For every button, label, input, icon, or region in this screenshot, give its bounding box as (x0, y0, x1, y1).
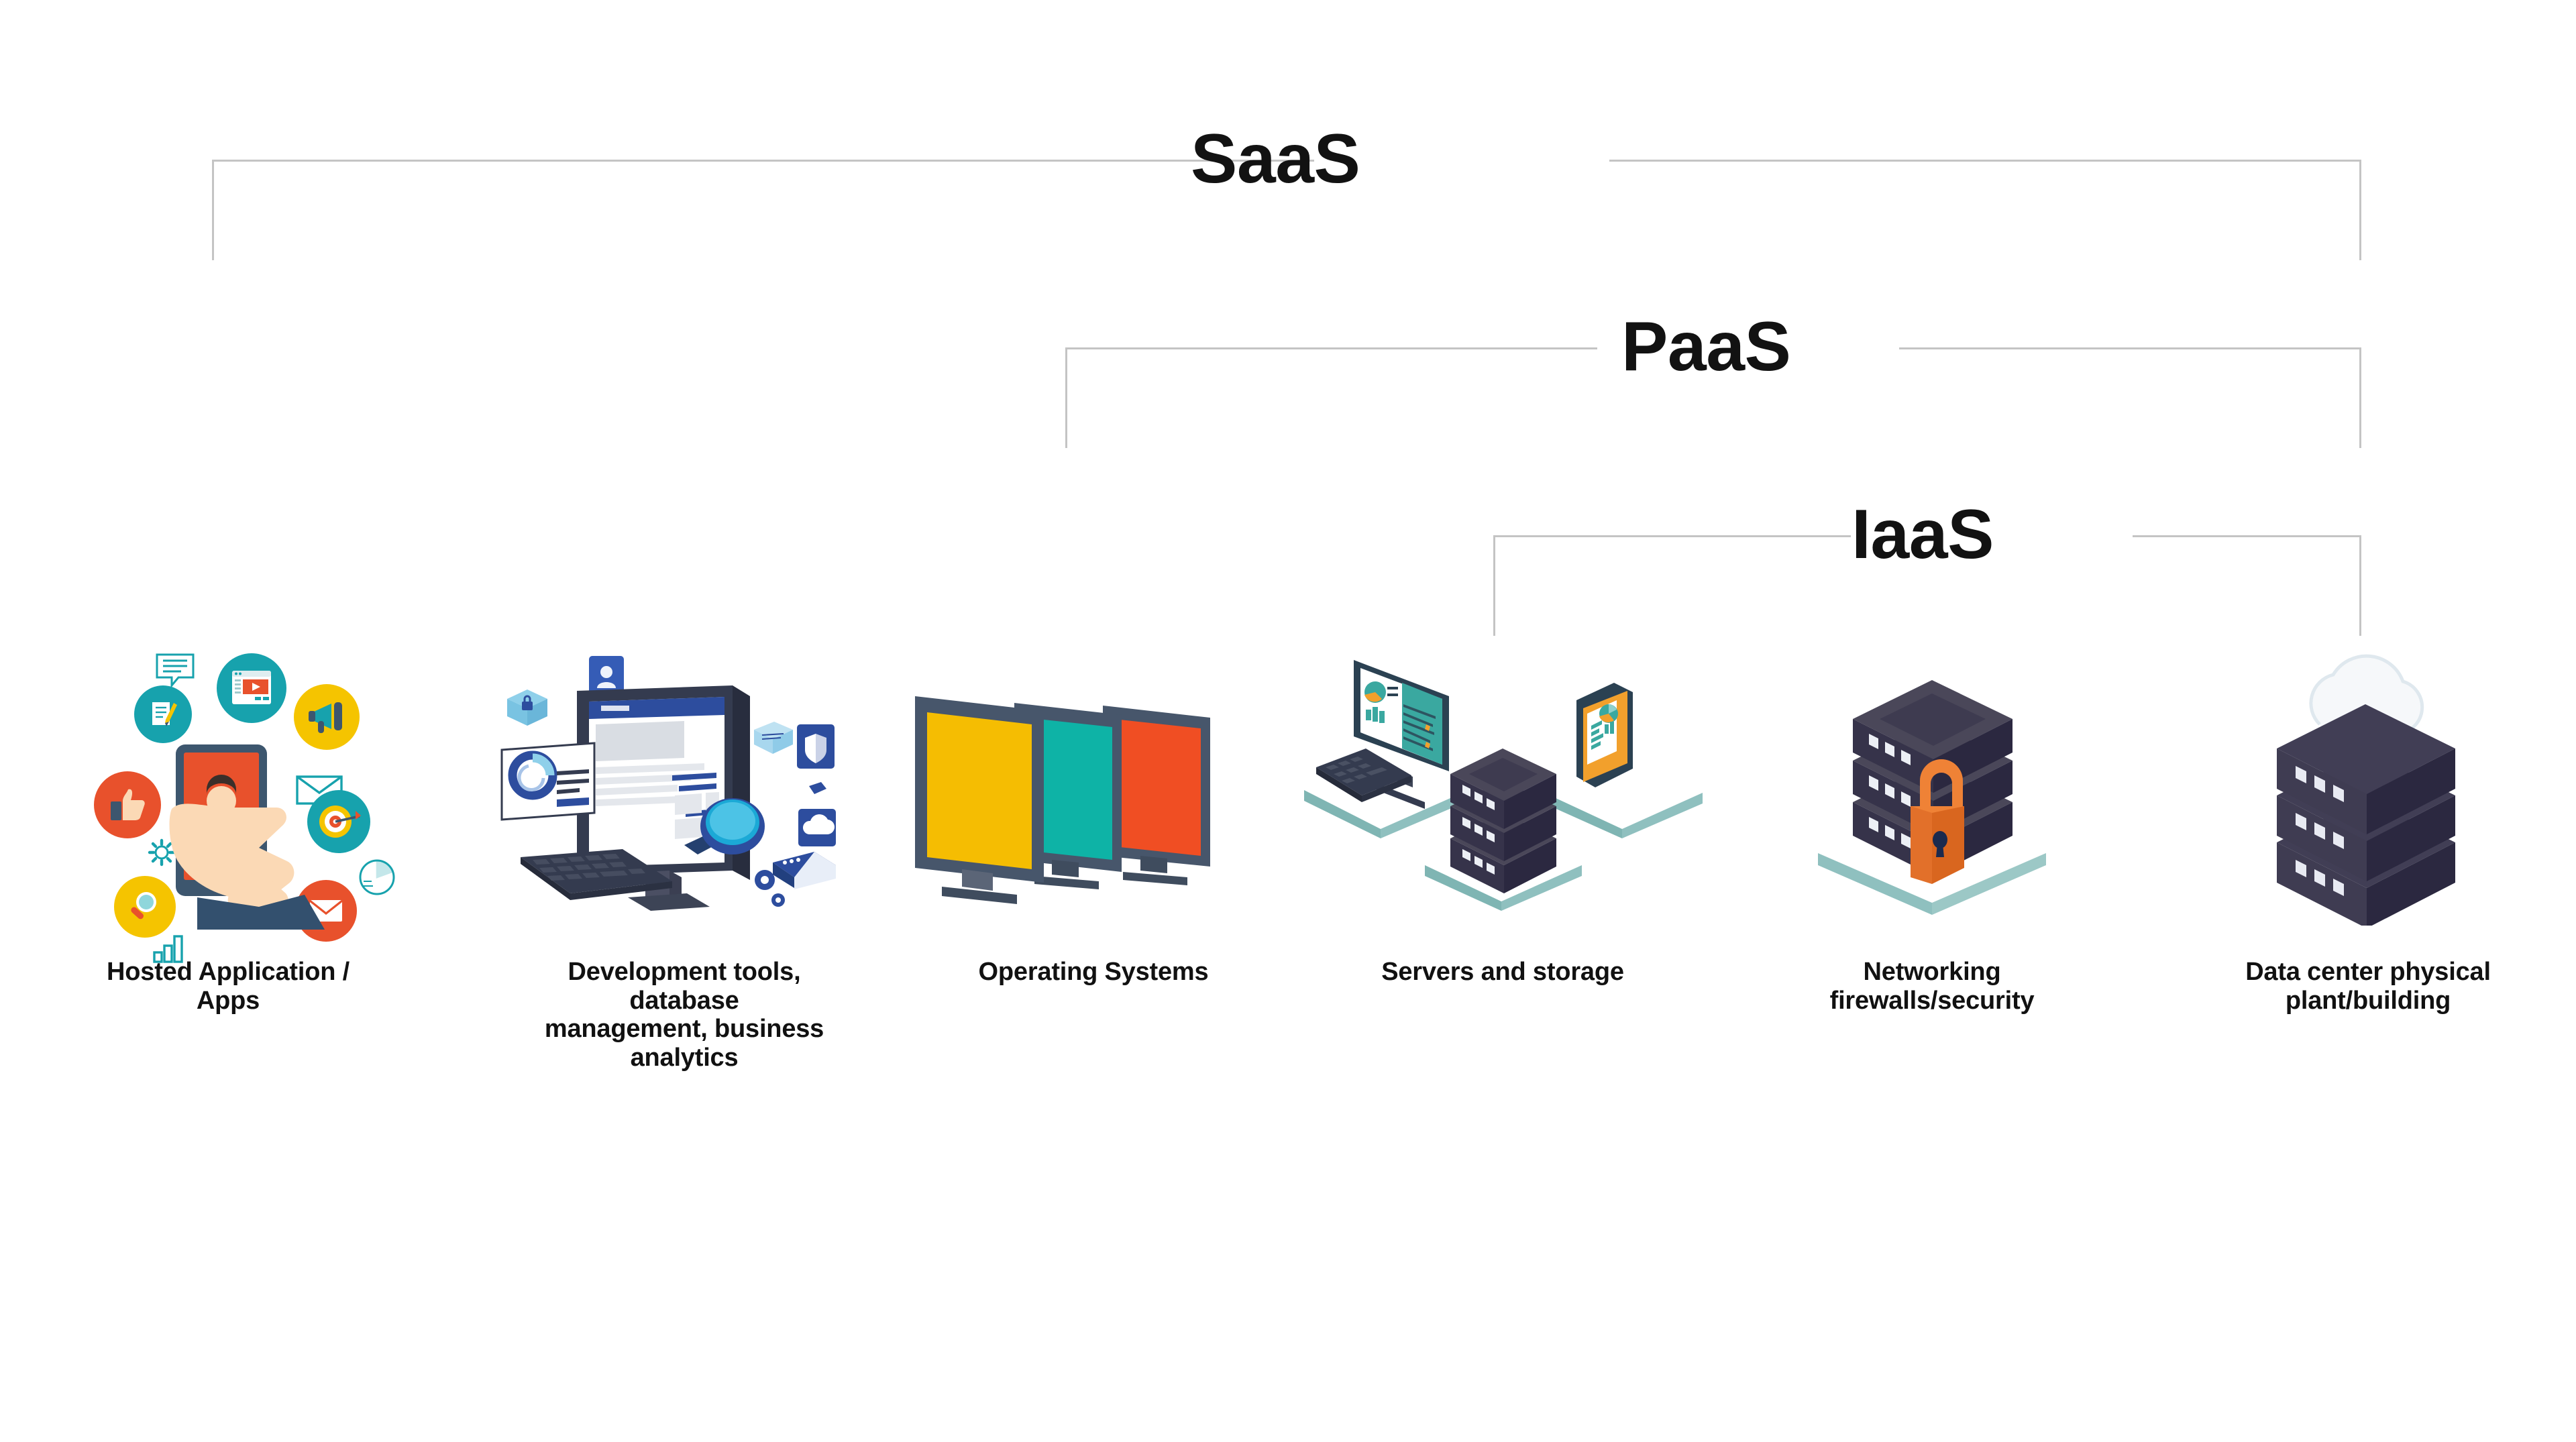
chevron-tile-icon (809, 782, 826, 794)
shield-icon (797, 724, 835, 769)
server-stack-icon (1450, 748, 1556, 893)
chat-bubble-icon (154, 652, 196, 689)
thumbs-up-icon (94, 771, 161, 838)
illustration-operating-systems (892, 644, 1295, 926)
illustration-data-center (2167, 644, 2569, 926)
diagram-canvas: SaaS PaaS IaaS (0, 0, 2576, 1442)
server-stack-icon (2277, 704, 2455, 926)
illustration-servers-storage (1301, 644, 1704, 926)
column-caption-hosted-apps: Hosted Application / Apps (27, 958, 429, 1015)
column-caption-networking-security: Networking firewalls/security (1731, 958, 2133, 1015)
video-player-icon (217, 653, 286, 723)
column-data-center: Data center physical plant/building (2167, 644, 2569, 926)
column-caption-dev-tools: Development tools, database management, … (483, 958, 885, 1072)
document-edit-icon (134, 685, 192, 743)
browser-window-icon (754, 722, 793, 754)
illustration-hosted-apps (27, 644, 429, 926)
column-operating-systems: Operating Systems (892, 644, 1295, 926)
smartphone-chart-icon (1576, 683, 1633, 787)
monitor-yellow (915, 696, 1044, 904)
column-caption-data-center: Data center physical plant/building (2167, 958, 2569, 1015)
megaphone-icon (294, 684, 360, 750)
column-caption-servers-storage: Servers and storage (1301, 958, 1704, 987)
tier-label-saas: SaaS (1191, 119, 1360, 199)
cloud-icon (798, 809, 836, 846)
column-networking-security: Networking firewalls/security (1731, 644, 2133, 926)
column-caption-operating-systems: Operating Systems (892, 958, 1295, 987)
column-hosted-apps: Hosted Application / Apps (27, 644, 429, 926)
tier-label-paas: PaaS (1621, 307, 1790, 387)
column-dev-tools: Development tools, database management, … (483, 644, 885, 926)
illustration-networking-security (1731, 644, 2133, 926)
gear-icon (755, 852, 836, 907)
lock-icon (507, 689, 547, 726)
hand-illustration (158, 775, 360, 930)
pie-chart-icon (357, 857, 397, 897)
column-servers-storage: Servers and storage (1301, 644, 1704, 926)
tier-label-iaas: IaaS (1851, 495, 1994, 575)
illustration-dev-tools (483, 644, 885, 926)
